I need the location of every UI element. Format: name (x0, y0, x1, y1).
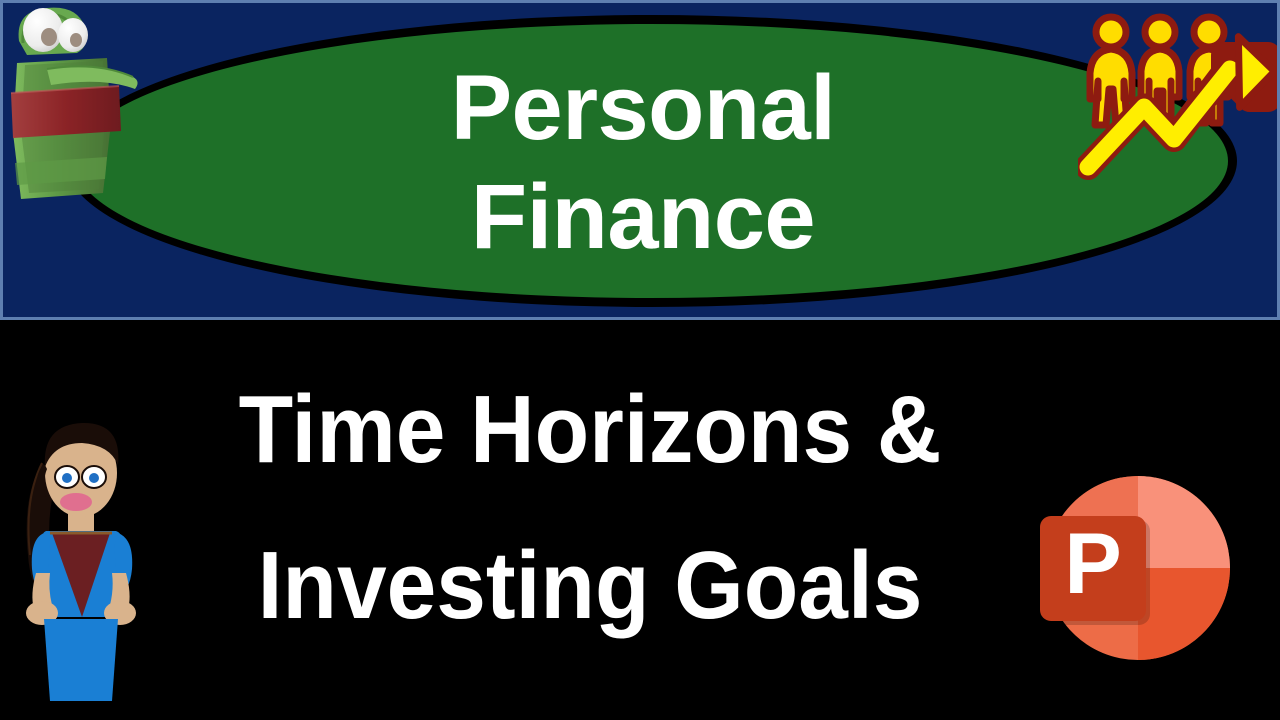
people-growth-arrow-icon (1078, 7, 1278, 192)
slide-canvas: Personal Finance (0, 0, 1280, 720)
subtitle-line-2: Investing Goals (258, 508, 923, 664)
title-banner: Personal Finance (0, 0, 1280, 320)
powerpoint-letter: P (1064, 516, 1121, 612)
green-ellipse-shape (65, 15, 1237, 307)
woman-presenter-icon (6, 405, 156, 705)
subtitle-text: Time Horizons & Investing Goals (172, 338, 1009, 678)
subtitle-line-1: Time Horizons & (239, 352, 942, 508)
lower-section: P Time Horizons & Investing Goals (0, 320, 1280, 720)
powerpoint-logo-icon: P (1028, 460, 1243, 675)
money-stack-mascot-icon (7, 3, 147, 233)
